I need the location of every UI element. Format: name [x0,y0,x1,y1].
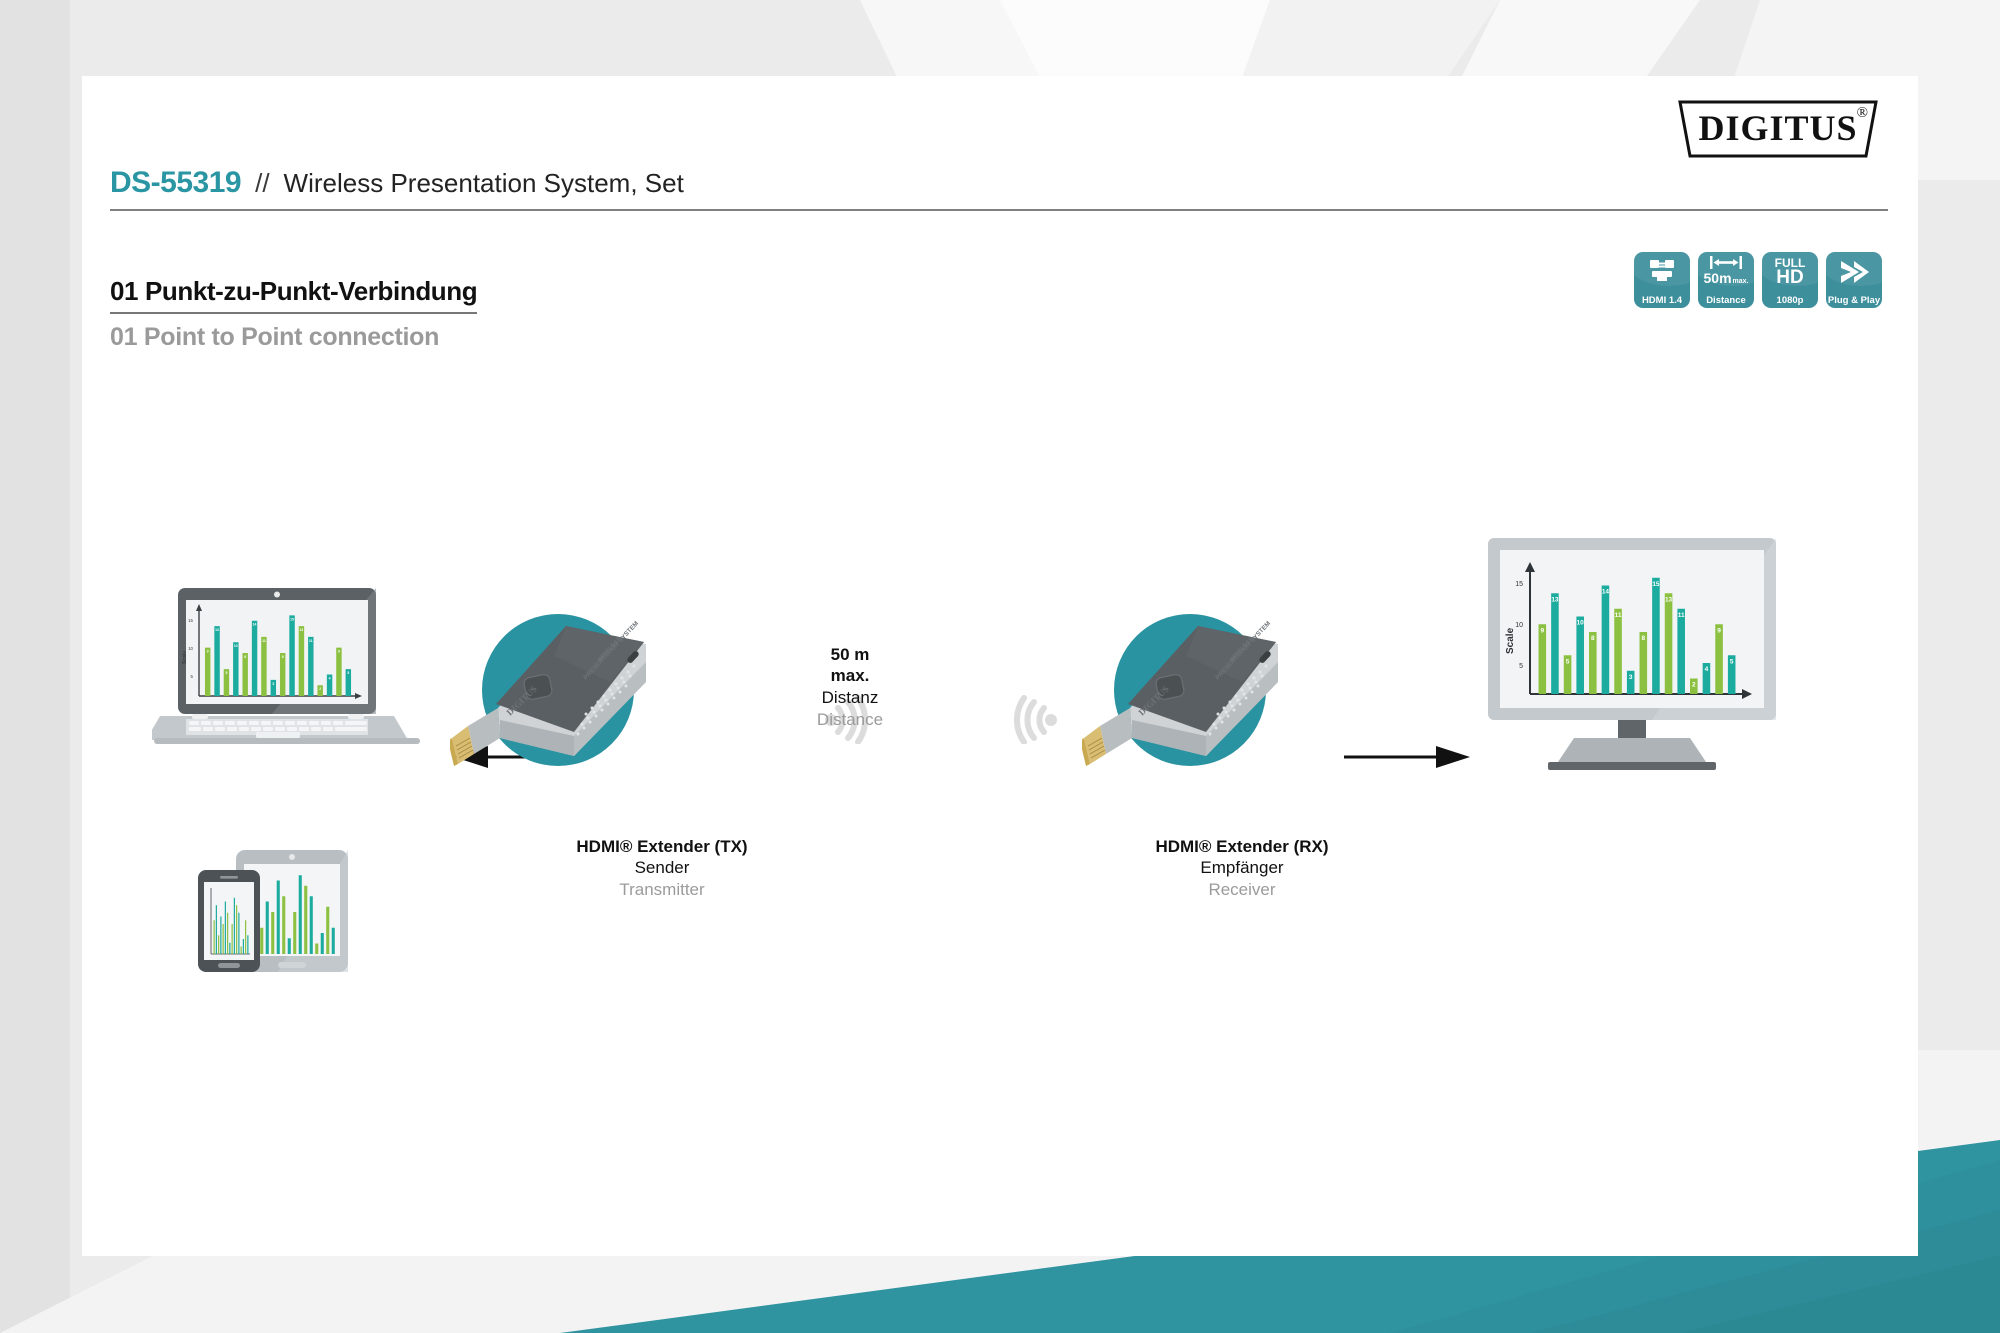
chart-bar [289,615,294,696]
chart-bar-label: 5 [1730,658,1734,665]
chart-bar [245,920,246,954]
chart-bar [236,905,237,954]
chart-bar-label: 8 [244,655,246,659]
chart-bar [218,935,219,954]
chart-bar [261,637,266,696]
tx-title: HDMI® Extender (TX) [502,836,822,857]
badge-hdmi-label: HDMI 1.4 [1642,296,1682,306]
chart-bar [216,905,217,954]
badge-distance-value: 50m [1704,271,1732,285]
chart-bar [247,935,248,954]
badge-plugplay-label: Plug & Play [1828,296,1880,306]
chart-bar-label: 2 [319,687,321,691]
chart-bar-label: 11 [309,639,313,643]
laptop-illustration: 15 10 5 Scale 91351081411381513112495 [152,586,422,746]
chart-bar [336,648,341,696]
chart-bar [1576,617,1584,695]
badge-distance-qualifier: max. [1733,278,1749,285]
rx-device-label: HDMI® Extender (RX) Empfänger Receiver [1082,836,1402,901]
badge-fullhd-label: 1080p [1777,296,1804,306]
chart-bar [243,939,244,954]
wireless-signal-icon-right [1002,688,1060,744]
chart-bar-label: 13 [215,628,219,632]
chart-bar-label: 5 [1566,658,1570,665]
chart-bar-label: 10 [1577,620,1585,627]
chart-bar [232,924,233,954]
chart-bar [282,896,285,954]
svg-text:5: 5 [1519,663,1523,670]
tx-label-de: Sender [502,857,822,879]
monitor-illustration: 15 10 5 Scale 91351081411381513112495 [1482,536,1782,776]
chart-bar-label: 15 [290,617,294,621]
chart-bar-label: 14 [1602,589,1610,596]
chart-bar-label: 4 [1705,666,1709,673]
chart-bar [252,621,257,696]
chart-bar-label: 4 [329,676,331,680]
tx-device-label: HDMI® Extender (TX) Sender Transmitter [502,836,822,901]
svg-text:10: 10 [188,646,193,651]
content-card: DIGITUS ® DS-55319 // Wireless Presentat… [82,76,1918,1256]
chart-bar-label: 9 [338,650,340,654]
chart-bar-label: 8 [282,655,284,659]
chart-bar-label: 9 [1717,627,1721,634]
tx-label-en: Transmitter [502,879,822,901]
chart-bar [1652,578,1660,694]
chart-bar [241,947,242,955]
distance-label-en: Distance [650,709,1050,731]
chart-bar [277,881,280,955]
rx-label-en: Receiver [1082,879,1402,901]
chart-bar-label: 9 [207,650,209,654]
chart-bar [225,902,226,955]
chart-bar-label: 15 [1652,581,1660,588]
chart-bar [233,642,238,696]
chart-bar-label: 11 [1678,612,1685,619]
chart-bar-label: 5 [347,671,349,675]
chart-bar [299,626,304,696]
chart-bar [214,920,215,954]
svg-text:Scale: Scale [182,651,188,664]
rx-title: HDMI® Extender (RX) [1082,836,1402,857]
diagram-stage: 15 10 5 Scale 91351081411381513112495 [82,76,1918,1256]
svg-text:15: 15 [188,618,193,623]
chart-bar-label: 5 [225,671,227,675]
distance-value: 50 m [650,644,1050,665]
chart-bar [271,912,274,954]
chart-bar [332,928,335,954]
chart-bar [1665,593,1673,694]
chart-bar [321,933,324,954]
chart-bar [304,886,307,954]
chart-bar [326,907,329,954]
svg-text:10: 10 [1515,622,1523,629]
rx-device-illustration: DIGITUS WIRELESS PRESENTATION SYSTEM [1082,604,1332,784]
chart-bar-label: 13 [300,628,304,632]
distance-qualifier: max. [650,665,1050,686]
chart-bar-label: 13 [1665,596,1673,603]
badge-distance-label: Distance [1706,296,1746,306]
chart-bar [315,944,318,955]
chart-bar [280,653,285,696]
chart-bar-label: 3 [1629,674,1633,681]
distance-block: 50 m max. Distanz Distance [650,644,1050,731]
badge-fullhd-sub: HD [1762,268,1818,287]
chart-bar [227,913,228,954]
chart-bar-label: 2 [1692,682,1696,689]
chart-bar [293,912,296,954]
distance-label-de: Distanz [650,687,1050,709]
chart-bar [223,924,224,954]
chart-bar [242,653,247,696]
chart-bar [299,875,302,954]
chart-bar [1602,586,1610,695]
chart-bar [310,896,313,954]
chart-bar-label: 8 [1591,635,1595,642]
chart-bar [288,938,291,954]
chart-bar [205,648,210,696]
chart-bar [234,898,235,954]
chart-bar [260,928,263,954]
arrow-right-to-monitor [1344,744,1472,770]
rx-label-de: Empfänger [1082,857,1402,879]
chart-bar [1715,624,1723,694]
chart-bar-label: 10 [234,644,238,648]
chart-bar [1677,609,1685,694]
chart-bar-label: 13 [1551,596,1559,603]
chart-bar [1539,624,1547,694]
chart-bar [238,913,239,954]
chart-bar-label: 3 [272,682,274,686]
chart-bar-label: 9 [1541,627,1545,634]
chart-bar-label: 11 [262,639,266,643]
chart-bar [1551,593,1559,694]
chart-bar [214,626,219,696]
chart-bar-label: 8 [1642,635,1646,642]
chart-bar [308,637,313,696]
svg-text:15: 15 [1515,581,1523,588]
chart-bar-label: 14 [253,623,257,627]
chart-bar-label: 11 [1615,612,1622,619]
chart-bar [266,902,269,955]
svg-text:Scale: Scale [1505,627,1516,654]
chart-bar [1614,609,1622,694]
chart-bar [220,917,221,955]
tablet-and-phone-illustration [192,846,352,976]
chart-bar [229,943,230,954]
